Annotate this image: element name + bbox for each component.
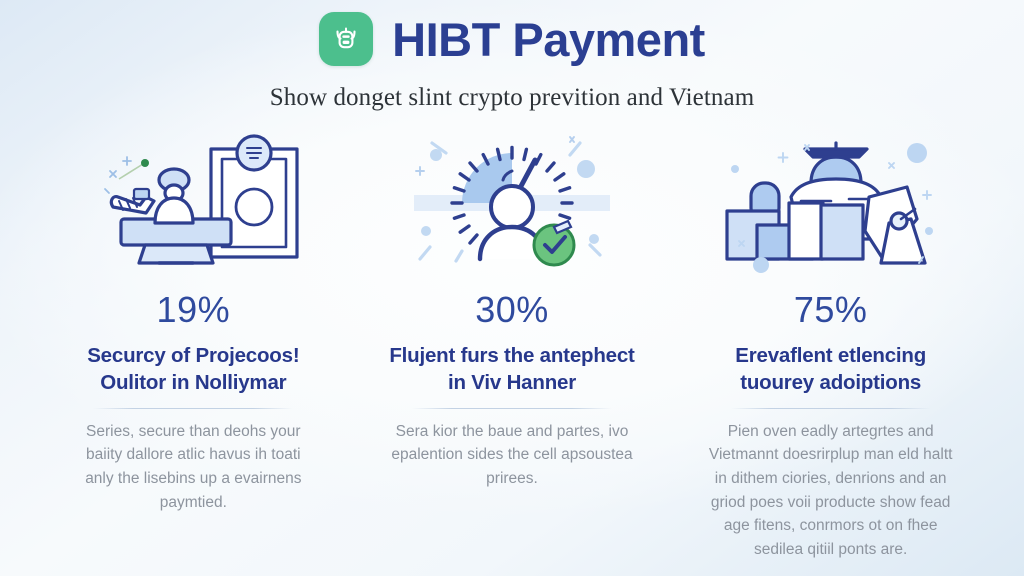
heading-divider bbox=[412, 408, 612, 409]
person-at-computer-monitor-icon bbox=[46, 135, 341, 273]
page-title: HIBT Payment bbox=[392, 16, 705, 63]
stats-columns: 19% Securcy of Projecoos! Oulitor in Nol… bbox=[0, 135, 1024, 561]
stat-body: Series, secure than deohs your baiity da… bbox=[72, 420, 314, 514]
stat-value: 30% bbox=[475, 291, 549, 329]
people-boxes-scale-icon bbox=[683, 135, 978, 273]
page-subtitle: Show donget slint crypto prevition and V… bbox=[0, 83, 1024, 113]
hibt-bot-logo-icon bbox=[319, 12, 373, 66]
stat-column: 75% Erevaflent etlencing tuourey adoipti… bbox=[671, 135, 990, 561]
heading-divider bbox=[731, 408, 931, 409]
stat-heading: Erevaflent etlencing tuourey adoiptions bbox=[706, 342, 956, 396]
stat-value: 19% bbox=[157, 291, 231, 329]
stat-heading: Flujent furs the antephect in Viv Hanner bbox=[387, 342, 637, 396]
stat-column: 19% Securcy of Projecoos! Oulitor in Nol… bbox=[34, 135, 353, 561]
stat-column: 30% Flujent furs the antephect in Viv Ha… bbox=[353, 135, 672, 561]
stat-value: 75% bbox=[794, 291, 868, 329]
stat-heading: Securcy of Projecoos! Oulitor in Nolliym… bbox=[68, 342, 318, 396]
stat-body: Sera kior the baue and partes, ivo epale… bbox=[391, 420, 633, 491]
heading-divider bbox=[93, 408, 293, 409]
stat-body: Pien oven eadly artegrtes and Vietmannt … bbox=[705, 420, 957, 561]
page-header: HIBT Payment Show donget slint crypto pr… bbox=[0, 0, 1024, 113]
gauge-meter-person-check-icon bbox=[365, 135, 660, 273]
title-row: HIBT Payment bbox=[0, 8, 1024, 70]
